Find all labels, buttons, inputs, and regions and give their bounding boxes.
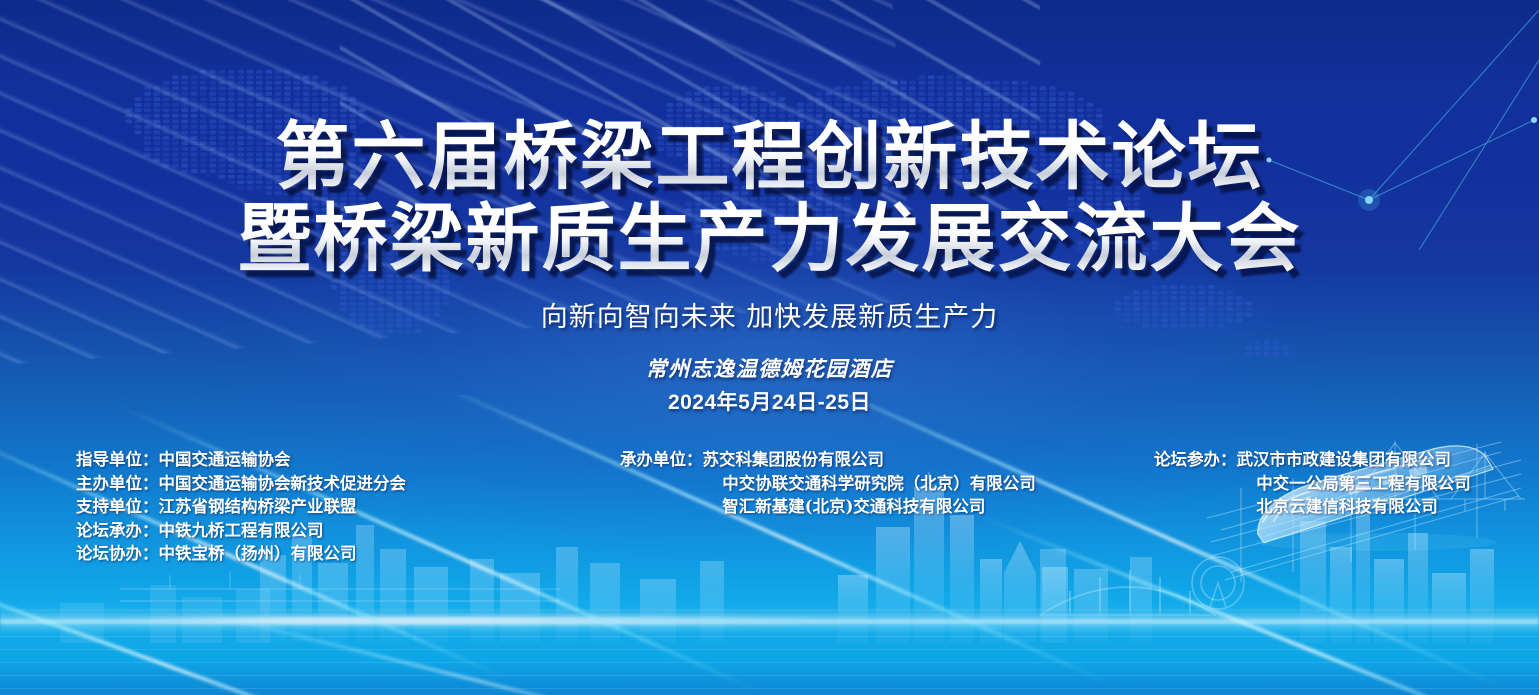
organizations-left-column: 指导单位：中国交通运输协会 主办单位：中国交通运输协会新技术促进分会 支持单位：… <box>76 448 406 566</box>
title-line-1: 第六届桥梁工程创新技术论坛 <box>0 116 1539 198</box>
org-row: 主办单位：中国交通运输协会新技术促进分会 <box>76 472 406 496</box>
event-dates: 2024年5月24日-25日 <box>0 386 1539 416</box>
org-value: 中交协联交通科学研究院（北京）有限公司 <box>722 474 1036 493</box>
organizations-right-column: 论坛参办：武汉市市政建设集团有限公司 中交一公局第三工程有限公司 北京云建信科技… <box>1154 448 1471 519</box>
org-value: 江苏省钢结构桥梁产业联盟 <box>159 497 357 516</box>
org-label: 论坛协办： <box>76 542 159 566</box>
org-row: 智汇新基建(北京)交通科技有限公司 <box>620 495 1036 519</box>
org-value: 中交一公局第三工程有限公司 <box>1256 474 1471 493</box>
org-label: 承办单位： <box>620 448 703 472</box>
org-value: 苏交科集团股份有限公司 <box>703 450 885 469</box>
org-label: 论坛承办： <box>76 519 159 543</box>
banner-subtitle: 向新向智向未来 加快发展新质生产力 <box>0 295 1539 334</box>
org-label: 支持单位： <box>76 495 159 519</box>
conference-banner: 第六届桥梁工程创新技术论坛 暨桥梁新质生产力发展交流大会 向新向智向未来 加快发… <box>0 0 1539 695</box>
title-line-2: 暨桥梁新质生产力发展交流大会 <box>0 198 1539 280</box>
org-value: 北京云建信科技有限公司 <box>1256 497 1438 516</box>
org-row: 论坛参办：武汉市市政建设集团有限公司 <box>1154 448 1471 472</box>
background-layers <box>0 0 1539 695</box>
org-row: 论坛承办：中铁九桥工程有限公司 <box>76 519 406 543</box>
horizon-glow <box>0 608 1539 634</box>
org-row: 北京云建信科技有限公司 <box>1154 495 1471 519</box>
organizations: 指导单位：中国交通运输协会 主办单位：中国交通运输协会新技术促进分会 支持单位：… <box>0 448 1539 578</box>
venue-name: 常州志逸温德姆花园酒店 <box>0 353 1539 383</box>
organizations-middle-column: 承办单位：苏交科集团股份有限公司 中交协联交通科学研究院（北京）有限公司 智汇新… <box>620 448 1036 519</box>
org-row: 中交协联交通科学研究院（北京）有限公司 <box>620 472 1036 496</box>
ground-grid <box>0 610 1539 695</box>
org-value: 中国交通运输协会 <box>159 450 291 469</box>
org-value: 智汇新基建(北京)交通科技有限公司 <box>722 497 985 516</box>
horizon-core-light <box>120 617 880 624</box>
banner-title: 第六届桥梁工程创新技术论坛 暨桥梁新质生产力发展交流大会 <box>0 116 1539 280</box>
org-label: 指导单位： <box>76 448 159 472</box>
org-value: 中铁九桥工程有限公司 <box>159 521 324 540</box>
org-row: 支持单位：江苏省钢结构桥梁产业联盟 <box>76 495 406 519</box>
org-row: 指导单位：中国交通运输协会 <box>76 448 406 472</box>
org-value: 武汉市市政建设集团有限公司 <box>1237 450 1452 469</box>
org-value: 中国交通运输协会新技术促进分会 <box>159 474 407 493</box>
org-row: 承办单位：苏交科集团股份有限公司 <box>620 448 1036 472</box>
org-label: 主办单位： <box>76 472 159 496</box>
org-row: 论坛协办：中铁宝桥（扬州）有限公司 <box>76 542 406 566</box>
org-row: 中交一公局第三工程有限公司 <box>1154 472 1471 496</box>
org-label: 论坛参办： <box>1154 448 1237 472</box>
venue-block: 常州志逸温德姆花园酒店 2024年5月24日-25日 <box>0 353 1539 416</box>
org-value: 中铁宝桥（扬州）有限公司 <box>159 544 357 563</box>
